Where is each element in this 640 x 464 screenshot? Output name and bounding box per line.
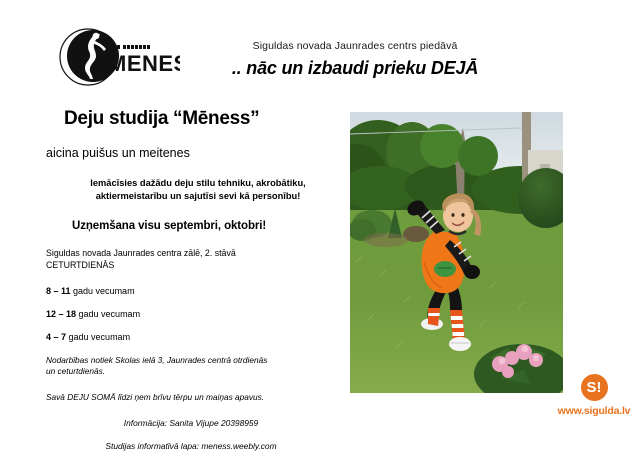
header-line-2: .. nāc un izbaudi prieku DEJĀ (190, 58, 520, 79)
enrollment-notice: Uzņemšana visu septembri, oktobri! (72, 220, 346, 232)
venue-line-1: Siguldas novada Jaunrades centra zālē, 2… (46, 248, 346, 260)
meness-logo-graphic: MENESS (55, 27, 180, 89)
photo-illustration (350, 112, 563, 393)
meness-logo: MENESS (55, 27, 180, 89)
age-suffix: gadu vecumam (71, 286, 135, 296)
schedule-note-line-2: un ceturtdienās. (46, 366, 346, 378)
meness-tagline (109, 45, 150, 49)
contact-phone: Informācija: Sanita Vijupe 20398959 (46, 418, 336, 428)
sigulda-branding[interactable]: S! www.sigulda.lv (548, 374, 640, 417)
content-column: Deju studija “Mēness” aicina puišus un m… (46, 108, 346, 464)
meness-wordmark: MENESS (108, 51, 180, 76)
age-suffix: gadu vecumam (76, 309, 140, 319)
venue-block: Siguldas novada Jaunrades centra zālē, 2… (46, 248, 346, 272)
contact-block: Informācija: Sanita Vijupe 20398959 Stud… (46, 418, 336, 451)
sigulda-url[interactable]: www.sigulda.lv (548, 405, 640, 417)
age-range: 8 – 11 (46, 286, 71, 296)
venue-line-2: CETURTDIENĀS (46, 260, 346, 272)
description-line-2: aktiermeistarību un sajutīsi sevi kā per… (74, 190, 322, 203)
equipment-note: Savā DEJU SOMĀ līdzi ņem brīvu tērpu un … (46, 392, 346, 404)
page-title: Deju studija “Mēness” (64, 108, 346, 130)
age-suffix: gadu vecumam (66, 332, 130, 342)
age-group-item: 8 – 11 gadu vecumam (46, 286, 346, 296)
schedule-note: Nodarbības notiek Skolas ielā 3, Jaunrad… (46, 355, 346, 378)
age-range: 4 – 7 (46, 332, 66, 342)
header-line-1: Siguldas novada Jaunrades centrs piedāvā (190, 40, 520, 52)
description-block: Iemācīsies dažādu deju stilu tehniku, ak… (74, 177, 322, 204)
age-range: 12 – 18 (46, 309, 76, 319)
header-text: Siguldas novada Jaunrades centrs piedāvā… (190, 40, 520, 79)
subtitle: aicina puišus un meitenes (46, 146, 346, 160)
schedule-note-line-1: Nodarbības notiek Skolas ielā 3, Jaunrad… (46, 355, 346, 367)
dancing-girl-photo (350, 112, 563, 393)
poster-page: MENESS Siguldas novada Jaunrades centrs … (0, 0, 640, 452)
age-group-list: 8 – 11 gadu vecumam 12 – 18 gadu vecumam… (46, 286, 346, 342)
sigulda-logo-mark: S! (581, 374, 608, 401)
notes-block: Nodarbības notiek Skolas ielā 3, Jaunrad… (46, 355, 346, 404)
age-group-item: 4 – 7 gadu vecumam (46, 332, 346, 342)
description-line-1: Iemācīsies dažādu deju stilu tehniku, ak… (74, 177, 322, 190)
contact-website: Studijas informatīvā lapa: meness.weebly… (46, 441, 336, 451)
age-group-item: 12 – 18 gadu vecumam (46, 309, 346, 319)
